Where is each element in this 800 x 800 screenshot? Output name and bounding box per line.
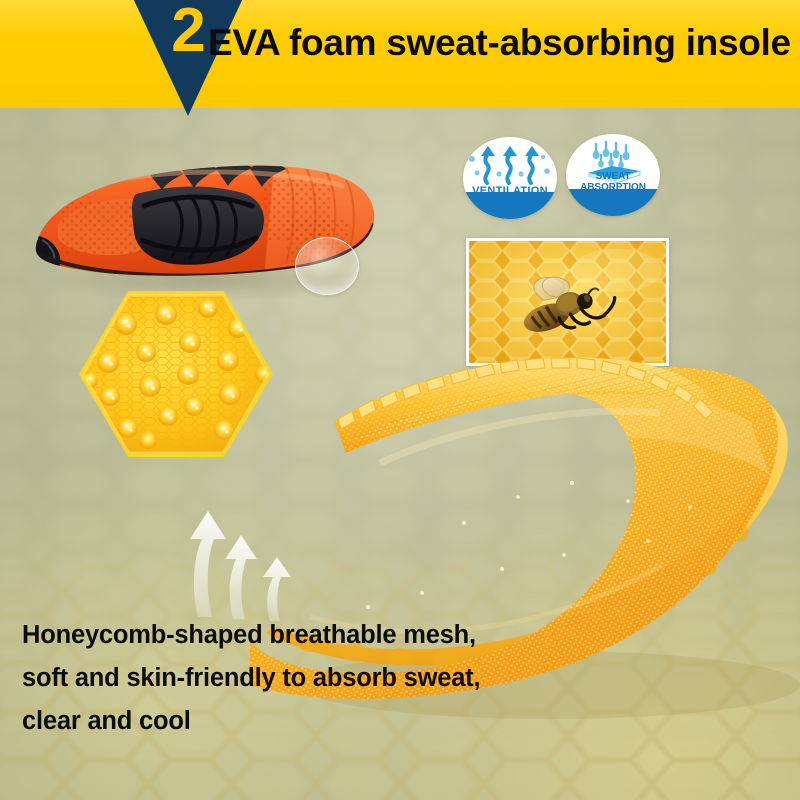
infographic-stage: 2 EVA foam sweat-absorbing insole [0, 0, 800, 800]
bee-photo-inner [469, 241, 666, 363]
description-line-2: soft and skin-friendly to absorb sweat, [22, 657, 542, 700]
badge-sweat-arc [566, 189, 660, 216]
description-line-3: clear and cool [22, 700, 542, 743]
shoe-photo [24, 128, 384, 308]
air-flow-arrows-icon [463, 143, 557, 189]
bee-photo-frame [466, 238, 669, 366]
description-block: Honeycomb-shaped breathable mesh, soft a… [22, 614, 542, 743]
description-line-1: Honeycomb-shaped breathable mesh, [22, 614, 542, 657]
header-bar: 2 EVA foam sweat-absorbing insole [0, 0, 800, 108]
bee-on-honeycomb-photo [469, 241, 666, 363]
badge-ventilation-arc [463, 192, 557, 219]
upward-airflow-arrows [176, 495, 326, 625]
page-title: EVA foam sweat-absorbing insole [208, 22, 794, 64]
badge-sweat-absorption: SWEAT ABSORPTION [566, 134, 660, 216]
honeycomb-material-hexagon [78, 290, 274, 458]
badge-ventilation: VENTILATION [463, 137, 557, 219]
